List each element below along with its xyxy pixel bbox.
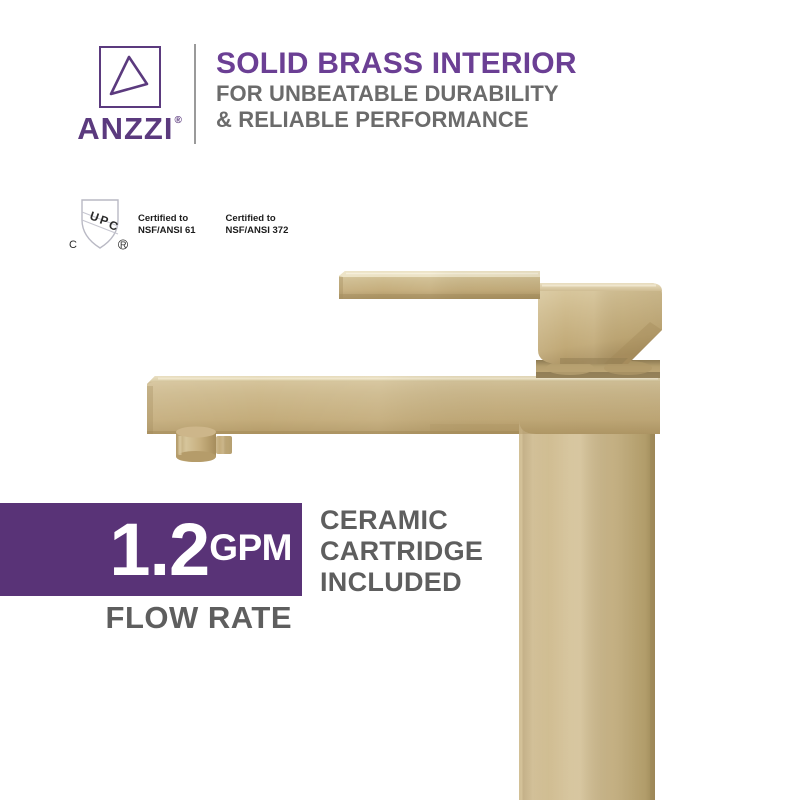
product-infographic: ANZZI ® SOLID BRASS INTERIOR FOR UNBEATA… — [0, 0, 800, 800]
svg-text:C: C — [69, 239, 77, 251]
feature-line-3: INCLUDED — [320, 567, 483, 598]
cert-2-line-2: NSF/ANSI 372 — [226, 225, 289, 238]
feature-text-block: CERAMIC CARTRIDGE INCLUDED — [320, 505, 483, 598]
registered-mark: ® — [174, 115, 182, 127]
faucet-cartridge-housing — [536, 360, 660, 378]
certification-group: U P C C R Certified to NSF/ANSI 61 Certi… — [68, 196, 288, 254]
faucet-handle[interactable] — [538, 283, 662, 364]
upc-shield-icon: U P C C R — [68, 196, 132, 254]
header-text-block: SOLID BRASS INTERIOR FOR UNBEATABLE DURA… — [216, 44, 577, 133]
cert-1-line-2: NSF/ANSI 61 — [138, 225, 196, 238]
feature-line-1: CERAMIC — [320, 505, 483, 536]
faucet-lever-arm[interactable] — [339, 271, 540, 299]
headline: SOLID BRASS INTERIOR — [216, 47, 577, 81]
cert-1-line-1: Certified to — [138, 213, 196, 226]
flow-rate-label: FLOW RATE — [0, 600, 292, 636]
flow-rate-banner: 1.2 GPM — [0, 503, 302, 596]
header-divider — [194, 44, 196, 144]
brand-name: ANZZI — [77, 113, 173, 144]
brand-wordmark: ANZZI ® — [77, 113, 183, 144]
faucet-column — [519, 381, 655, 800]
faucet-spout — [147, 376, 660, 434]
flow-rate-value: 1.2 — [109, 513, 209, 587]
brand-logo: ANZZI ® — [82, 44, 178, 144]
flow-rate-unit: GPM — [209, 528, 292, 572]
certification-nsf-372: Certified to NSF/ANSI 372 — [226, 213, 289, 238]
subline-2: & RELIABLE PERFORMANCE — [216, 107, 577, 133]
anzzi-triangle-logo-icon — [99, 46, 161, 108]
header: ANZZI ® SOLID BRASS INTERIOR FOR UNBEATA… — [82, 44, 577, 144]
cert-2-line-1: Certified to — [226, 213, 289, 226]
certification-nsf-61: Certified to NSF/ANSI 61 — [138, 213, 196, 238]
spout-column-joint — [519, 420, 536, 434]
subline-1: FOR UNBEATABLE DURABILITY — [216, 81, 577, 107]
feature-line-2: CARTRIDGE — [320, 536, 483, 567]
faucet-aerator — [176, 427, 232, 463]
